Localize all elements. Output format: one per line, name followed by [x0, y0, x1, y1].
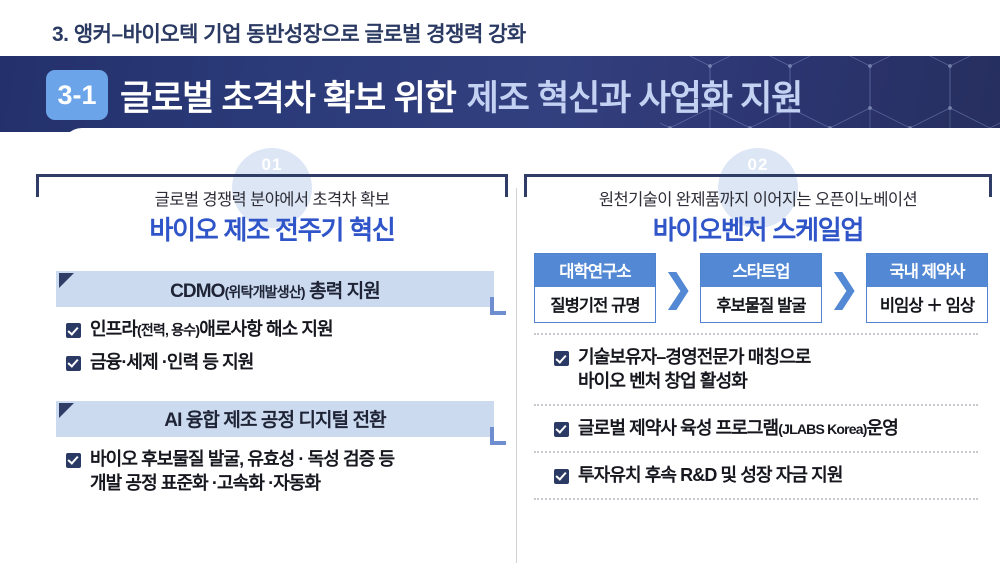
bullet-small: (JLABS Korea) — [778, 421, 866, 437]
banner-title-part1: 글로벌 초격차 확보 위한 — [120, 70, 456, 121]
bullet-line2: 개발 공정 표준화 ·고속화 ·자동화 — [90, 472, 394, 496]
column-subtitle-02: 원천기술이 완제품까지 이어지는 오픈이노베이션 — [524, 186, 992, 210]
flow-diagram: 대학연구소 질병기전 규명 ❯ 스타트업 후보물질 발굴 ❯ 국내 제약사 비임… — [530, 253, 992, 323]
list-item: 금융·세제 ·인력 등 지원 — [66, 351, 508, 375]
list-item: 투자유치 후속 R&D 및 성장 자금 지원 — [554, 464, 992, 488]
bullet-a: 투자유치 후속 R&D 및 성장 자금 지원 — [578, 465, 842, 485]
triangle-marker-icon — [59, 273, 74, 288]
column-subtitle-01: 글로벌 경쟁력 분야에서 초격차 확보 — [36, 186, 508, 210]
list-item: 기술보유자–경영전문가 매칭으로 바이오 벤처 창업 활성화 — [554, 346, 992, 394]
bullet-text: 기술보유자–경영전문가 매칭으로 바이오 벤처 창업 활성화 — [578, 346, 810, 394]
bullet-list-cdmo: 인프라(전력, 용수)애로사항 해소 지원 금융·세제 ·인력 등 지원 — [36, 318, 508, 375]
flow-step-1: 대학연구소 질병기전 규명 — [534, 253, 656, 323]
check-icon — [66, 453, 81, 468]
corner-accent-icon — [490, 297, 506, 315]
list-item: 글로벌 제약사 육성 프로그램(JLABS Korea)운영 — [554, 417, 992, 441]
flow-step-3-body: 비임상 ＋ 임상 — [867, 287, 987, 322]
divider-dotted — [534, 451, 978, 453]
bullet-list-ai: 바이오 후보물질 발굴, 유효성 · 독성 검증 등 개발 공정 표준화 ·고속… — [36, 448, 508, 496]
banner-title: 글로벌 초격차 확보 위한 제조 혁신과 사업화 지원 — [120, 66, 802, 124]
flow-step-1-head: 대학연구소 — [535, 254, 655, 287]
chevron-right-icon: ❯ — [822, 253, 866, 323]
bullet-list-scaleup-3: 투자유치 후속 R&D 및 성장 자금 지원 — [524, 464, 992, 488]
cdmo-heading-tail: 총력 지원 — [309, 281, 380, 302]
section-heading-bar-ai: AI 융합 제조 공정 디지털 전환 — [56, 401, 494, 437]
column-title-01: 바이오 제조 전주기 혁신 — [36, 210, 508, 247]
section-ai: AI 융합 제조 공정 디지털 전환 바이오 후보물질 발굴, 유효성 · 독성… — [36, 401, 508, 496]
divider-dotted — [534, 404, 978, 406]
bullet-b: 애로사항 해소 지원 — [199, 319, 332, 339]
section-heading-bar-cdmo: CDMO(위탁개발생산) 총력 지원 — [56, 271, 494, 307]
corner-accent-icon — [490, 427, 506, 445]
bullet-text: 금융·세제 ·인력 등 지원 — [90, 351, 253, 375]
check-icon — [554, 351, 569, 366]
bullet-a: 기술보유자–경영전문가 매칭으로 — [578, 347, 810, 367]
flow-step-2-body: 후보물질 발굴 — [701, 287, 821, 322]
section-heading-text-cdmo: CDMO(위탁개발생산) 총력 지원 — [170, 276, 380, 303]
flow-step-1-body: 질병기전 규명 — [535, 287, 655, 322]
bullet-a: 인프라 — [90, 319, 137, 339]
bullet-b: 운영 — [867, 418, 898, 438]
divider-dotted — [534, 498, 978, 500]
cdmo-heading-small: (위탁개발생산) — [225, 284, 305, 300]
column-title-02: 바이오벤처 스케일업 — [524, 210, 992, 247]
bullet-text: 바이오 후보물질 발굴, 유효성 · 독성 검증 등 개발 공정 표준화 ·고속… — [90, 448, 394, 496]
slide-root: 3. 앵커–바이오텍 기업 동반성장으로 글로벌 경쟁력 강화 — [0, 0, 1000, 568]
check-icon — [554, 422, 569, 437]
page-title: 3. 앵커–바이오텍 기업 동반성장으로 글로벌 경쟁력 강화 — [52, 18, 526, 48]
column-01: 01 글로벌 경쟁력 분야에서 초격차 확보 바이오 제조 전주기 혁신 CDM… — [36, 148, 508, 505]
column-02: 02 원천기술이 완제품까지 이어지는 오픈이노베이션 바이오벤처 스케일업 대… — [524, 148, 992, 500]
bullet-small: (전력, 용수) — [137, 322, 199, 338]
bullet-text: 글로벌 제약사 육성 프로그램(JLABS Korea)운영 — [578, 417, 898, 441]
chevron-right-icon: ❯ — [656, 253, 700, 323]
section-cdmo: CDMO(위탁개발생산) 총력 지원 인프라(전력, 용수)애로사항 해소 지원… — [36, 271, 508, 375]
bullet-a: 글로벌 제약사 육성 프로그램 — [578, 418, 778, 438]
bullet-list-scaleup-1: 기술보유자–경영전문가 매칭으로 바이오 벤처 창업 활성화 — [524, 346, 992, 394]
flow-step-3-head: 국내 제약사 — [867, 254, 987, 287]
bullet-line2: 바이오 벤처 창업 활성화 — [578, 370, 810, 394]
bullet-text: 투자유치 후속 R&D 및 성장 자금 지원 — [578, 464, 842, 488]
check-icon — [66, 356, 81, 371]
bullet-a: 바이오 후보물질 발굴, 유효성 · 독성 검증 등 — [90, 449, 394, 469]
column-bracket-01: 글로벌 경쟁력 분야에서 초격차 확보 바이오 제조 전주기 혁신 — [36, 174, 508, 239]
triangle-marker-icon — [59, 403, 74, 418]
flow-step-3: 국내 제약사 비임상 ＋ 임상 — [866, 253, 988, 323]
list-item: 인프라(전력, 용수)애로사항 해소 지원 — [66, 318, 508, 342]
banner-title-part2: 제조 혁신과 사업화 지원 — [467, 70, 803, 121]
section-heading-text-ai: AI 융합 제조 공정 디지털 전환 — [164, 405, 385, 432]
list-item: 바이오 후보물질 발굴, 유효성 · 독성 검증 등 개발 공정 표준화 ·고속… — [66, 448, 508, 496]
divider-dotted — [534, 333, 978, 335]
flow-step-2-head: 스타트업 — [701, 254, 821, 287]
column-divider — [516, 188, 517, 563]
check-icon — [554, 469, 569, 484]
bullet-a: 금융·세제 ·인력 등 지원 — [90, 352, 253, 372]
bullet-text: 인프라(전력, 용수)애로사항 해소 지원 — [90, 318, 333, 342]
section-number-badge: 3-1 — [46, 70, 108, 120]
cdmo-heading-main: CDMO — [170, 281, 224, 302]
check-icon — [66, 323, 81, 338]
flow-step-2: 스타트업 후보물질 발굴 — [700, 253, 822, 323]
bullet-list-scaleup-2: 글로벌 제약사 육성 프로그램(JLABS Korea)운영 — [524, 417, 992, 441]
column-bracket-02: 원천기술이 완제품까지 이어지는 오픈이노베이션 바이오벤처 스케일업 — [524, 174, 992, 239]
